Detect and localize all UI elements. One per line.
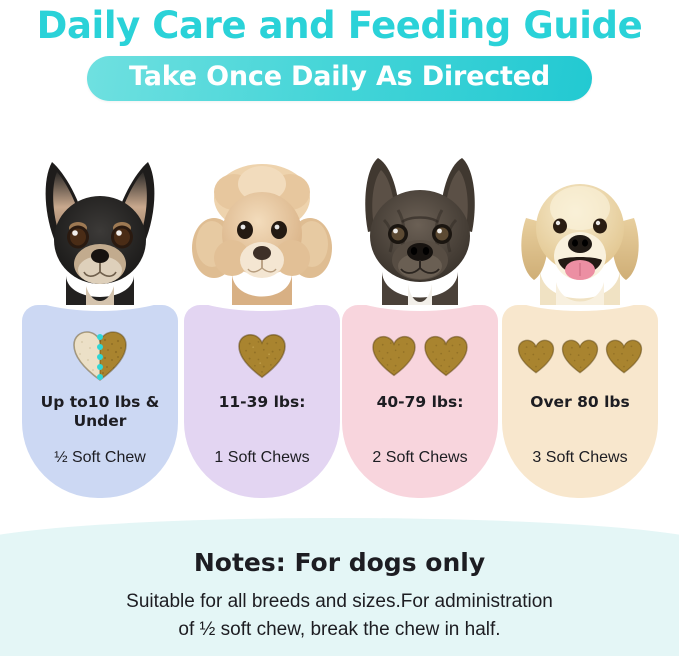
chew-group (184, 325, 340, 387)
dose-label: ½ Soft Chew (24, 449, 176, 467)
dosage-card-1: Up to10 lbs & Under ½ Soft Chew (20, 0, 180, 520)
dosage-card-4: Over 80 lbs 3 Soft Chews (500, 0, 660, 520)
notes-line-2: of ½ soft chew, break the chew in half. (178, 619, 500, 640)
card-panel: 40-79 lbs: 2 Soft Chews (342, 305, 498, 498)
chew-icon (423, 335, 469, 377)
chew-icon (517, 339, 555, 374)
chew-group (502, 325, 658, 387)
chihuahua-head-icon (20, 136, 180, 306)
notes-title: Notes: For dogs only (0, 548, 679, 577)
feeding-guide-page: Daily Care and Feeding Guide Take Once D… (0, 0, 679, 656)
weight-label: Over 80 lbs (506, 393, 654, 412)
dose-label: 3 Soft Chews (504, 449, 656, 467)
notes-line-1: Suitable for all breeds and sizes.For ad… (126, 591, 553, 612)
chew-icon (561, 339, 599, 374)
weight-label: Up to10 lbs & Under (26, 393, 174, 431)
dosage-card-2: 11-39 lbs: 1 Soft Chews (182, 0, 342, 520)
card-panel: 11-39 lbs: 1 Soft Chews (184, 305, 340, 498)
dosage-card-3: 40-79 lbs: 2 Soft Chews (340, 0, 500, 520)
weight-label: 11-39 lbs: (188, 393, 336, 412)
half-chew-icon (72, 330, 128, 382)
weight-label: 40-79 lbs: (346, 393, 494, 412)
dose-label: 1 Soft Chews (186, 449, 338, 467)
chew-icon (237, 333, 287, 379)
poodle-head-icon (182, 136, 342, 306)
dose-label: 2 Soft Chews (344, 449, 496, 467)
notes-body: Suitable for all breeds and sizes.For ad… (60, 588, 619, 643)
golden-retriever-head-icon (500, 136, 660, 306)
dosage-cards: Up to10 lbs & Under ½ Soft Chew (0, 0, 679, 520)
card-panel: Over 80 lbs 3 Soft Chews (502, 305, 658, 498)
chew-icon (371, 335, 417, 377)
chew-group (22, 325, 178, 387)
card-panel: Up to10 lbs & Under ½ Soft Chew (22, 305, 178, 498)
french-bulldog-head-icon (340, 136, 500, 306)
chew-group (342, 325, 498, 387)
chew-icon (605, 339, 643, 374)
